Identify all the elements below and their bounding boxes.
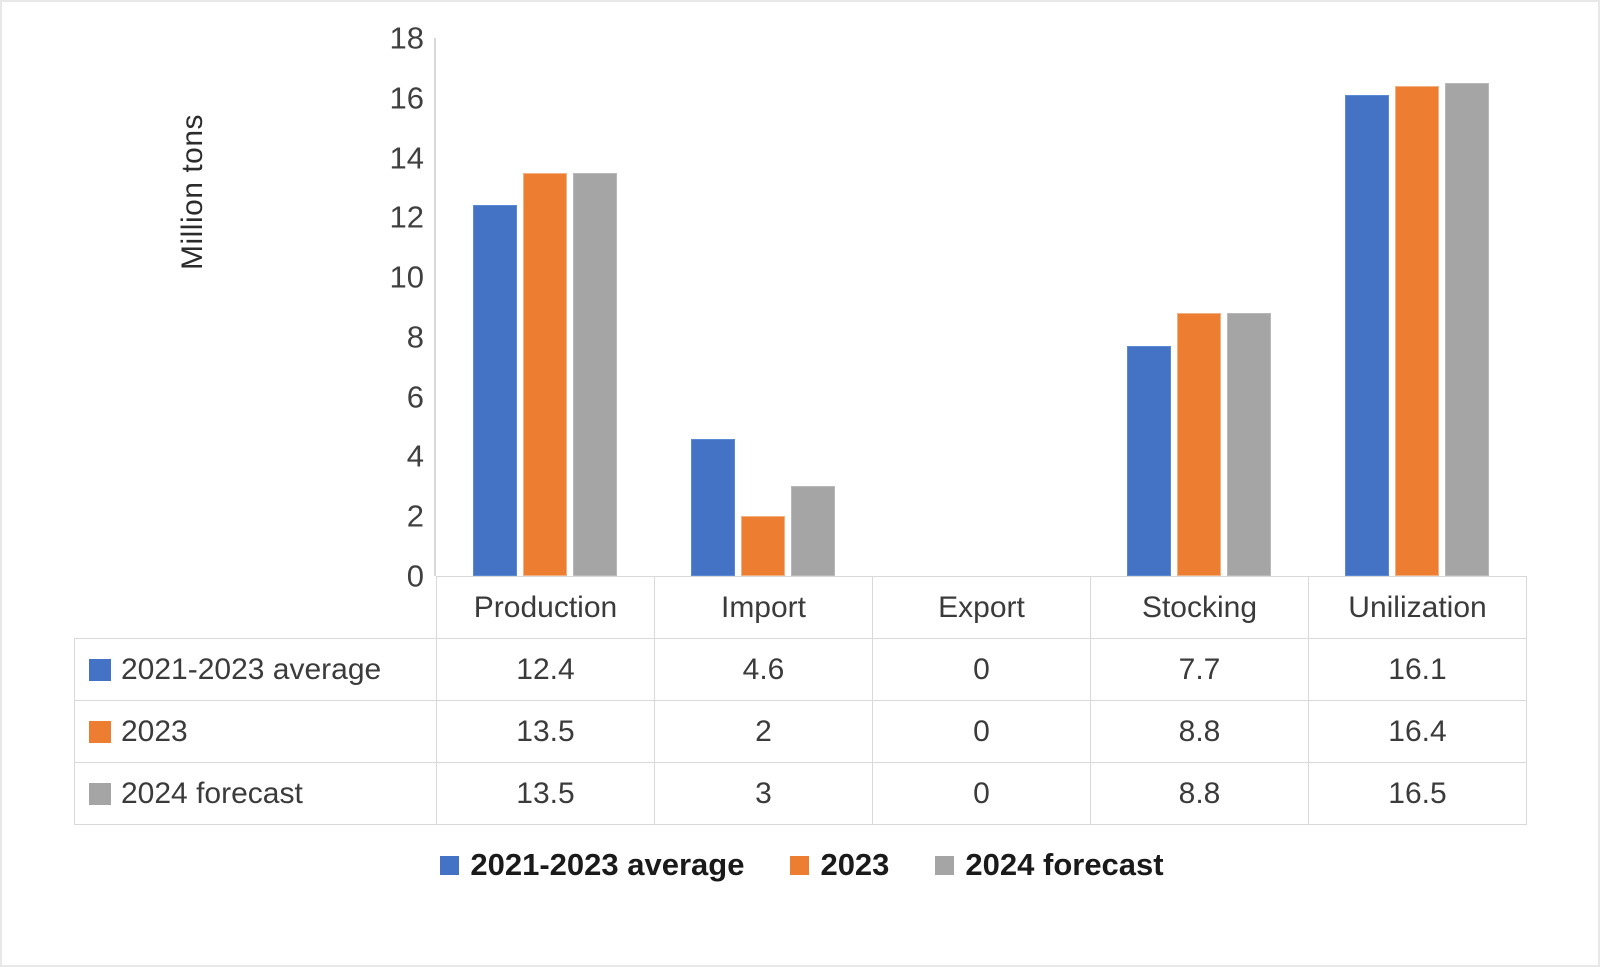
bar-group	[654, 38, 872, 576]
table-corner-cell	[75, 577, 437, 639]
bar	[523, 173, 567, 577]
plot-area	[436, 38, 1526, 576]
series-color-swatch-icon	[89, 721, 111, 743]
table-cell: 4.6	[655, 639, 873, 701]
table-row-label: 2024 forecast	[75, 763, 437, 825]
table-cell: 16.1	[1309, 639, 1527, 701]
table-cell: 8.8	[1091, 763, 1309, 825]
bar	[1177, 313, 1221, 576]
table-cell: 8.8	[1091, 701, 1309, 763]
legend-color-swatch-icon	[440, 856, 459, 875]
bar-group	[872, 38, 1090, 576]
table-cell: 16.5	[1309, 763, 1527, 825]
y-axis-title: Million tons	[176, 42, 216, 342]
y-tick-label: 14	[332, 142, 424, 173]
table-column-header: Production	[437, 577, 655, 639]
table-column-header: Unilization	[1309, 577, 1527, 639]
y-tick-label: 8	[332, 321, 424, 352]
legend-item[interactable]: 2023	[790, 847, 889, 883]
table-cell: 0	[873, 701, 1091, 763]
table-header-row: ProductionImportExportStockingUnilizatio…	[75, 577, 1527, 639]
table-column-header: Export	[873, 577, 1091, 639]
bar	[791, 486, 835, 576]
table-cell: 0	[873, 639, 1091, 701]
legend-label: 2023	[820, 847, 889, 883]
table-row: 2024 forecast13.5308.816.5	[75, 763, 1527, 825]
legend-color-swatch-icon	[935, 856, 954, 875]
y-axis-tick-labels: 181614121086420	[332, 22, 424, 592]
table-row: 2021-2023 average12.44.607.716.1	[75, 639, 1527, 701]
bar-group	[1090, 38, 1308, 576]
table-cell: 0	[873, 763, 1091, 825]
y-tick-label: 10	[332, 262, 424, 293]
table-cell: 16.4	[1309, 701, 1527, 763]
y-tick-label: 4	[332, 441, 424, 472]
bar	[573, 173, 617, 577]
bar	[1127, 346, 1171, 576]
bar	[1345, 95, 1389, 576]
table-cell: 13.5	[437, 763, 655, 825]
legend-label: 2021-2023 average	[470, 847, 744, 883]
chart-legend: 2021-2023 average20232024 forecast	[2, 847, 1600, 883]
legend-color-swatch-icon	[790, 856, 809, 875]
y-tick-label: 2	[332, 501, 424, 532]
table-cell: 2	[655, 701, 873, 763]
table-row-label: 2023	[75, 701, 437, 763]
bar	[1395, 86, 1439, 576]
legend-item[interactable]: 2021-2023 average	[440, 847, 744, 883]
table-row: 202313.5208.816.4	[75, 701, 1527, 763]
data-table: ProductionImportExportStockingUnilizatio…	[74, 576, 1527, 825]
bar	[1445, 83, 1489, 576]
table-cell: 7.7	[1091, 639, 1309, 701]
bar	[473, 205, 517, 576]
bar-group	[436, 38, 654, 576]
table-cell: 3	[655, 763, 873, 825]
y-tick-label: 12	[332, 202, 424, 233]
bar	[1227, 313, 1271, 576]
bar	[691, 439, 735, 576]
chart-container: Million tons 181614121086420 ProductionI…	[0, 0, 1600, 967]
legend-label: 2024 forecast	[965, 847, 1163, 883]
table-column-header: Stocking	[1091, 577, 1309, 639]
series-color-swatch-icon	[89, 659, 111, 681]
table-row-label: 2021-2023 average	[75, 639, 437, 701]
series-color-swatch-icon	[89, 783, 111, 805]
table-column-header: Import	[655, 577, 873, 639]
y-tick-label: 16	[332, 82, 424, 113]
table-cell: 12.4	[437, 639, 655, 701]
bar	[741, 516, 785, 576]
y-tick-label: 18	[332, 23, 424, 54]
legend-item[interactable]: 2024 forecast	[935, 847, 1163, 883]
y-tick-label: 6	[332, 381, 424, 412]
bar-group	[1308, 38, 1526, 576]
table-cell: 13.5	[437, 701, 655, 763]
